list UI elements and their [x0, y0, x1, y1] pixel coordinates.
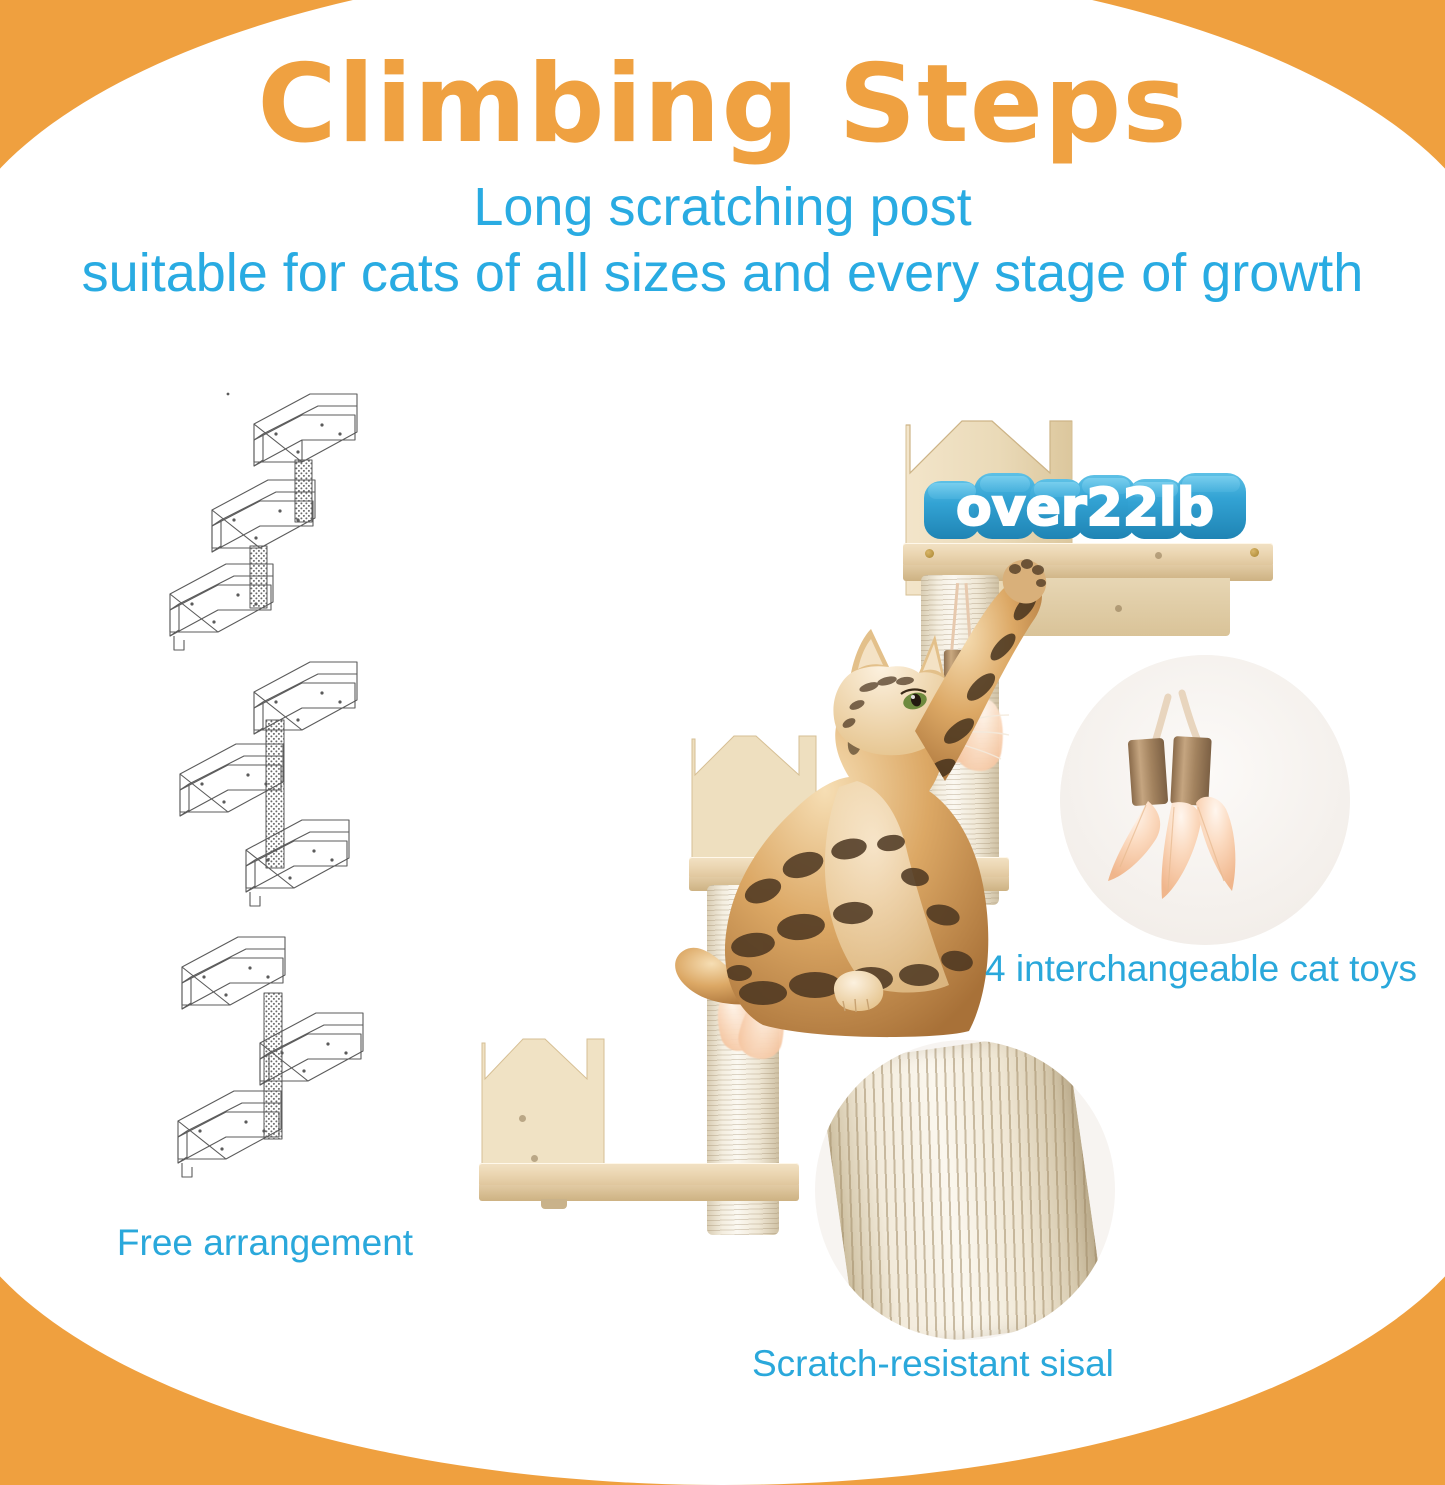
- diagram-descending-staircase-configuration: [150, 382, 430, 662]
- diagram-alternating-offset-configuration: [150, 925, 430, 1187]
- inset-cat-toys: [1060, 655, 1350, 945]
- mount-hole: [1115, 605, 1122, 612]
- subtitle-line-2: suitable for cats of all sizes and every…: [0, 241, 1445, 307]
- sisal-rope-closeup: [818, 1040, 1106, 1340]
- badge-label: over22lb: [956, 478, 1214, 538]
- inset-sisal-rope: [815, 1040, 1115, 1340]
- over22lb-badge: over22lb: [918, 463, 1253, 551]
- page-title: Climbing Steps: [0, 48, 1445, 161]
- caption-sisal: Scratch-resistant sisal: [752, 1343, 1114, 1385]
- mount-hole: [531, 1155, 538, 1162]
- bottom-shelf-edge: [479, 1185, 799, 1201]
- page-subtitle: Long scratching post suitable for cats o…: [0, 175, 1445, 307]
- caption-cat-toys: 4 interchangeable cat toys: [985, 948, 1417, 990]
- diagram-zigzag-single-post-configuration: [150, 660, 430, 922]
- mount-hole: [1155, 552, 1162, 559]
- subtitle-line-1: Long scratching post: [0, 175, 1445, 241]
- cat: [643, 555, 1063, 1075]
- bottom-foot: [541, 1199, 567, 1209]
- mount-hole: [519, 1115, 526, 1122]
- header: Climbing Steps Long scratching post suit…: [0, 48, 1445, 307]
- bottom-back-panel: [477, 1035, 607, 1175]
- bottom-shelf-board: [479, 1163, 799, 1187]
- free-arrangement-caption: Free arrangement: [100, 1222, 430, 1264]
